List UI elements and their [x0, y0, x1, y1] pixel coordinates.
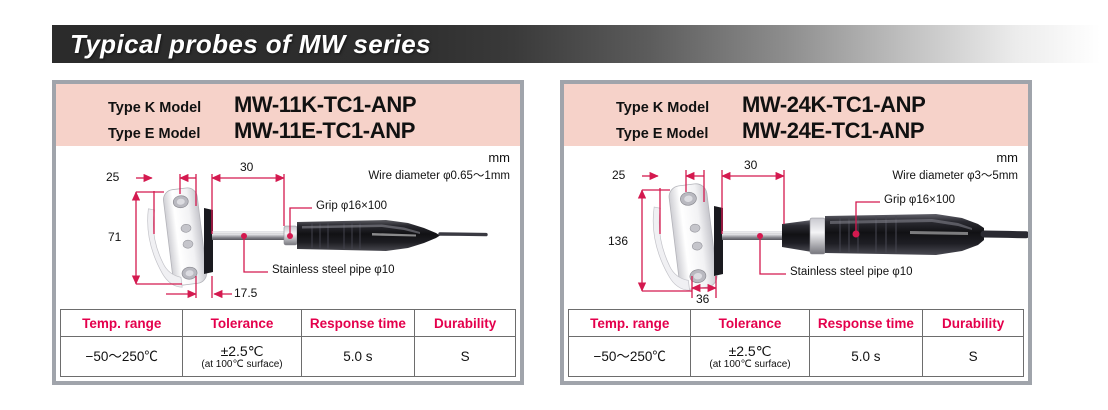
- model-code-e: MW-24E-TC1-ANP: [742, 118, 924, 144]
- dimension-25: 25: [612, 168, 625, 182]
- tolerance-sub: (at 100℃ surface): [693, 359, 806, 371]
- table-row: −50～250℃ ±2.5℃ (at 100℃ surface) 5.0 s S: [569, 337, 1024, 377]
- tolerance-main: ±2.5℃: [693, 343, 806, 359]
- title-banner: Typical probes of MW series: [52, 25, 1100, 63]
- dimension-bottom: 17.5: [234, 286, 257, 300]
- unit-label: mm: [488, 150, 510, 165]
- probe-panel-mw11: Type K Model MW-11K-TC1-ANP Type E Model…: [52, 80, 524, 385]
- model-row-type-e: Type E Model MW-24E-TC1-ANP: [616, 118, 1028, 144]
- spec-header-temp-range: Temp. range: [61, 310, 183, 337]
- spec-value-response-time: 5.0 s: [301, 337, 415, 377]
- panel-header: Type K Model MW-24K-TC1-ANP Type E Model…: [564, 84, 1028, 146]
- spec-value-temp-range: −50～250℃: [569, 337, 691, 377]
- probe-panel-mw24: Type K Model MW-24K-TC1-ANP Type E Model…: [560, 80, 1032, 385]
- dimension-bottom: 36: [696, 292, 709, 306]
- spec-header-temp-range: Temp. range: [569, 310, 691, 337]
- spec-header-response-time: Response time: [301, 310, 415, 337]
- spec-header-row: Temp. range Tolerance Response time Dura…: [569, 310, 1024, 337]
- dimension-height: 71: [108, 230, 121, 244]
- dimension-height: 136: [608, 234, 628, 248]
- spec-value-tolerance: ±2.5℃ (at 100℃ surface): [691, 337, 809, 377]
- dimension-25: 25: [106, 170, 119, 184]
- spec-value-response-time: 5.0 s: [809, 337, 923, 377]
- tolerance-main: ±2.5℃: [185, 343, 298, 359]
- tolerance-sub: (at 100℃ surface): [185, 359, 298, 371]
- model-row-type-k: Type K Model MW-11K-TC1-ANP: [108, 92, 520, 118]
- probe-diagram: mm Wire diameter φ0.65～1mm Grip φ16×100 …: [56, 146, 520, 307]
- model-code-e: MW-11E-TC1-ANP: [234, 118, 415, 144]
- spec-value-tolerance: ±2.5℃ (at 100℃ surface): [183, 337, 301, 377]
- spec-header-response-time: Response time: [809, 310, 923, 337]
- wire-diameter-note: Wire diameter φ3～5mm: [892, 167, 1018, 183]
- spec-value-temp-range: −50～250℃: [61, 337, 183, 377]
- spec-header-tolerance: Tolerance: [183, 310, 301, 337]
- panel-header: Type K Model MW-11K-TC1-ANP Type E Model…: [56, 84, 520, 146]
- type-label-e: Type E Model: [108, 126, 234, 142]
- spec-header-tolerance: Tolerance: [691, 310, 809, 337]
- type-label-e: Type E Model: [616, 126, 742, 142]
- wire-diameter-note: Wire diameter φ0.65～1mm: [368, 167, 510, 183]
- probe-diagram: mm Wire diameter φ3～5mm Grip φ16×100 Sta…: [564, 146, 1028, 307]
- type-label-k: Type K Model: [108, 100, 234, 116]
- dimension-30: 30: [744, 158, 757, 172]
- unit-label: mm: [996, 150, 1018, 165]
- spec-header-durability: Durability: [415, 310, 516, 337]
- model-row-type-k: Type K Model MW-24K-TC1-ANP: [616, 92, 1028, 118]
- spec-header-row: Temp. range Tolerance Response time Dura…: [61, 310, 516, 337]
- table-row: −50～250℃ ±2.5℃ (at 100℃ surface) 5.0 s S: [61, 337, 516, 377]
- spec-header-durability: Durability: [923, 310, 1024, 337]
- callout-stainless-pipe: Stainless steel pipe φ10: [790, 266, 913, 278]
- model-row-type-e: Type E Model MW-11E-TC1-ANP: [108, 118, 520, 144]
- model-code-k: MW-11K-TC1-ANP: [234, 92, 416, 118]
- spec-table: Temp. range Tolerance Response time Dura…: [568, 309, 1024, 377]
- spec-table: Temp. range Tolerance Response time Dura…: [60, 309, 516, 377]
- type-label-k: Type K Model: [616, 100, 742, 116]
- callout-grip: Grip φ16×100: [884, 194, 955, 206]
- spec-value-durability: S: [923, 337, 1024, 377]
- model-code-k: MW-24K-TC1-ANP: [742, 92, 925, 118]
- callout-stainless-pipe: Stainless steel pipe φ10: [272, 264, 395, 276]
- spec-value-durability: S: [415, 337, 516, 377]
- callout-grip: Grip φ16×100: [316, 200, 387, 212]
- dimension-30: 30: [240, 160, 253, 174]
- page-title: Typical probes of MW series: [52, 29, 431, 60]
